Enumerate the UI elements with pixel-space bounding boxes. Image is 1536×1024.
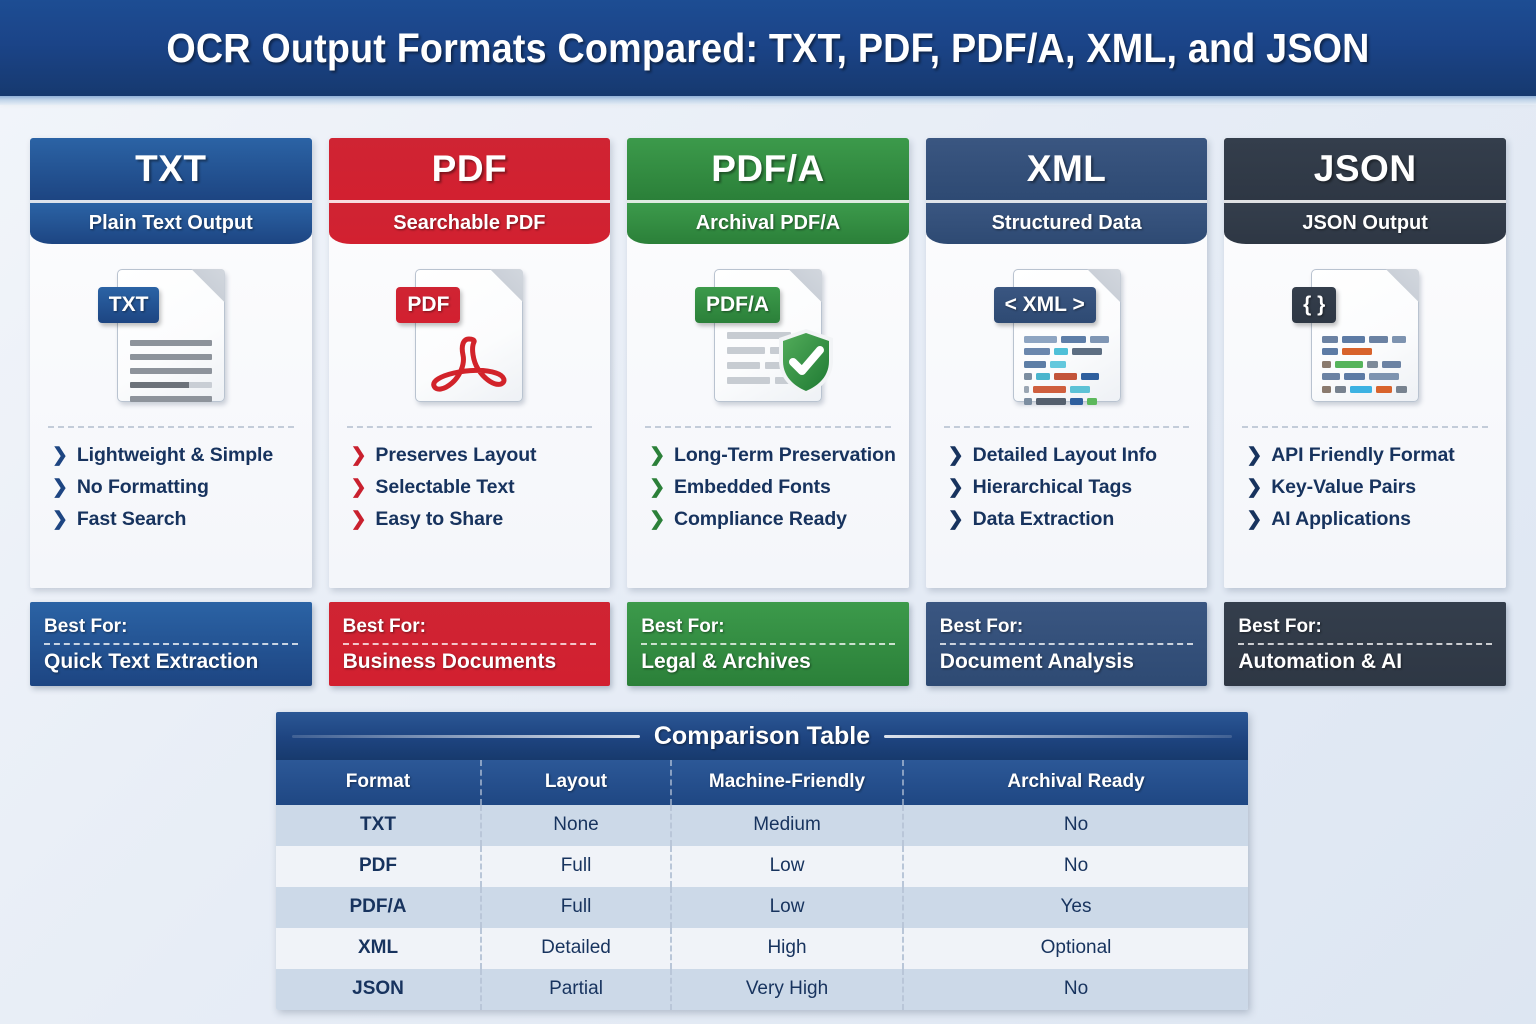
chevron-right-icon: ❯ <box>649 510 665 529</box>
code-token <box>1024 348 1050 355</box>
row-format-name: PDF/A <box>276 887 481 928</box>
code-token <box>1382 361 1401 368</box>
code-token <box>1322 336 1338 343</box>
card-feature-list-xml: ❯Detailed Layout Info❯Hierarchical Tags❯… <box>926 428 1208 541</box>
acrobat-swirl-icon <box>430 336 508 398</box>
card-title-json: JSON <box>1224 138 1506 200</box>
best-for-label: Best For: <box>940 616 1194 638</box>
card-subtitle-pdf: Searchable PDF <box>329 200 611 244</box>
code-token <box>1036 398 1066 405</box>
feature-item: ❯Compliance Ready <box>649 508 909 531</box>
code-line <box>1024 398 1112 405</box>
code-token <box>1344 373 1365 380</box>
feature-item: ❯Data Extraction <box>948 508 1208 531</box>
code-token <box>1024 373 1033 380</box>
format-card-json[interactable]: JSONJSON Output{ }❯API Friendly Format❯K… <box>1224 138 1506 588</box>
code-token <box>1024 398 1033 405</box>
feature-label: Data Extraction <box>973 508 1115 531</box>
best-for-rule <box>641 643 895 645</box>
text-line <box>130 396 212 402</box>
comparison-table-panel: Comparison Table FormatLayoutMachine-Fri… <box>276 712 1248 1010</box>
table-row: XMLDetailedHighOptional <box>276 928 1248 969</box>
card-title-txt: TXT <box>30 138 312 200</box>
best-for-label: Best For: <box>641 616 895 638</box>
comparison-table-title: Comparison Table <box>654 722 870 751</box>
feature-item: ❯Detailed Layout Info <box>948 444 1208 467</box>
code-token <box>1369 373 1399 380</box>
table-row: JSONPartialVery HighNo <box>276 969 1248 1010</box>
code-line <box>1024 386 1112 393</box>
card-subtitle-pdfa: Archival PDF/A <box>627 200 909 244</box>
best-for-row: Best For:Quick Text ExtractionBest For:B… <box>30 602 1506 686</box>
feature-item: ❯Selectable Text <box>351 476 611 499</box>
chevron-right-icon: ❯ <box>351 446 367 465</box>
table-cell: No <box>903 805 1248 846</box>
feature-item: ❯AI Applications <box>1246 508 1506 531</box>
feature-item: ❯Embedded Fonts <box>649 476 909 499</box>
card-subtitle-xml: Structured Data <box>926 200 1208 244</box>
feature-label: AI Applications <box>1271 508 1411 531</box>
feature-label: Key-Value Pairs <box>1271 476 1416 499</box>
best-for-value: Business Documents <box>343 650 597 674</box>
feature-item: ❯API Friendly Format <box>1246 444 1506 467</box>
txt-file-icon: TXT <box>117 269 225 402</box>
card-icon-area-xml: < XML > <box>926 244 1208 426</box>
card-feature-list-txt: ❯Lightweight & Simple❯No Formatting❯Fast… <box>30 428 312 541</box>
chevron-right-icon: ❯ <box>649 446 665 465</box>
page-title: OCR Output Formats Compared: TXT, PDF, P… <box>166 25 1369 72</box>
table-header-row: FormatLayoutMachine-FriendlyArchival Rea… <box>276 760 1248 805</box>
text-line <box>130 354 212 360</box>
best-for-rule <box>343 643 597 645</box>
feature-item: ❯Preserves Layout <box>351 444 611 467</box>
file-type-badge: PDF <box>396 287 460 323</box>
card-title-xml: XML <box>926 138 1208 200</box>
text-line <box>727 347 765 354</box>
feature-item: ❯Key-Value Pairs <box>1246 476 1506 499</box>
code-line <box>1322 336 1410 343</box>
text-lines <box>130 340 212 410</box>
code-line <box>1024 348 1112 355</box>
chevron-right-icon: ❯ <box>1246 510 1262 529</box>
comparison-table-title-bar: Comparison Table <box>276 712 1248 760</box>
best-for-card-json[interactable]: Best For:Automation & AI <box>1224 602 1506 686</box>
table-cell: Partial <box>481 969 671 1010</box>
card-title-pdf: PDF <box>329 138 611 200</box>
feature-label: Lightweight & Simple <box>77 444 273 467</box>
feature-label: Preserves Layout <box>375 444 536 467</box>
column-header-machine-friendly[interactable]: Machine-Friendly <box>671 760 903 805</box>
title-rule-right <box>884 735 1232 738</box>
feature-item: ❯Hierarchical Tags <box>948 476 1208 499</box>
code-token <box>1072 348 1102 355</box>
comparison-table: FormatLayoutMachine-FriendlyArchival Rea… <box>276 760 1248 1010</box>
card-feature-list-pdfa: ❯Long-Term Preservation❯Embedded Fonts❯C… <box>627 428 909 541</box>
file-type-badge: { } <box>1292 287 1336 323</box>
code-token <box>1335 386 1346 393</box>
best-for-card-pdf[interactable]: Best For:Business Documents <box>329 602 611 686</box>
table-cell: Full <box>481 887 671 928</box>
best-for-rule <box>1238 643 1492 645</box>
table-cell: Full <box>481 846 671 887</box>
feature-label: Easy to Share <box>375 508 503 531</box>
pdf-file-icon: PDF <box>415 269 523 402</box>
card-icon-area-json: { } <box>1224 244 1506 426</box>
chevron-right-icon: ❯ <box>948 510 964 529</box>
best-for-rule <box>940 643 1194 645</box>
best-for-card-txt[interactable]: Best For:Quick Text Extraction <box>30 602 312 686</box>
best-for-rule <box>44 643 298 645</box>
feature-item: ❯Lightweight & Simple <box>52 444 312 467</box>
table-row: TXTNoneMediumNo <box>276 805 1248 846</box>
row-format-name: JSON <box>276 969 481 1010</box>
xml-file-icon: < XML > <box>1013 269 1121 402</box>
table-cell: Yes <box>903 887 1248 928</box>
row-format-name: TXT <box>276 805 481 846</box>
table-cell: No <box>903 846 1248 887</box>
best-for-value: Automation & AI <box>1238 650 1492 674</box>
code-token <box>1322 361 1331 368</box>
code-token <box>1090 336 1109 343</box>
text-line <box>130 340 212 346</box>
comparison-table-head: FormatLayoutMachine-FriendlyArchival Rea… <box>276 760 1248 805</box>
column-header-format[interactable]: Format <box>276 760 481 805</box>
code-line <box>1024 361 1112 368</box>
page-fold-corner <box>191 269 225 303</box>
table-cell: Low <box>671 887 903 928</box>
card-title-pdfa: PDF/A <box>627 138 909 200</box>
feature-label: Hierarchical Tags <box>973 476 1132 499</box>
code-token <box>1024 386 1029 393</box>
chevron-right-icon: ❯ <box>1246 446 1262 465</box>
code-token <box>1070 386 1089 393</box>
code-token <box>1367 361 1378 368</box>
code-token <box>1335 361 1363 368</box>
code-token <box>1087 398 1098 405</box>
code-line <box>1322 361 1410 368</box>
table-cell: No <box>903 969 1248 1010</box>
text-line <box>727 362 760 369</box>
feature-label: Fast Search <box>77 508 186 531</box>
best-for-value: Document Analysis <box>940 650 1194 674</box>
file-type-badge: PDF/A <box>695 287 780 323</box>
card-subtitle-json: JSON Output <box>1224 200 1506 244</box>
feature-label: No Formatting <box>77 476 209 499</box>
card-icon-area-txt: TXT <box>30 244 312 426</box>
card-subtitle-txt: Plain Text Output <box>30 200 312 244</box>
file-type-badge: TXT <box>98 287 160 323</box>
code-token <box>1054 348 1068 355</box>
code-token <box>1054 373 1077 380</box>
page-fold-corner <box>489 269 523 303</box>
feature-label: API Friendly Format <box>1271 444 1454 467</box>
code-lines <box>1322 336 1410 399</box>
file-type-badge: < XML > <box>994 287 1096 323</box>
text-line <box>130 382 212 388</box>
format-card-pdfa[interactable]: PDF/AArchival PDF/APDF/A❯Long-Term Prese… <box>627 138 909 588</box>
code-token <box>1342 336 1365 343</box>
code-token <box>1322 348 1338 355</box>
code-lines <box>1024 336 1112 411</box>
feature-label: Embedded Fonts <box>674 476 831 499</box>
code-token <box>1322 373 1340 380</box>
column-header-layout[interactable]: Layout <box>481 760 671 805</box>
feature-label: Long-Term Preservation <box>674 444 896 467</box>
code-token <box>1061 336 1086 343</box>
chevron-right-icon: ❯ <box>351 478 367 497</box>
row-format-name: XML <box>276 928 481 969</box>
code-token <box>1036 373 1050 380</box>
chevron-right-icon: ❯ <box>649 478 665 497</box>
feature-label: Detailed Layout Info <box>973 444 1157 467</box>
code-token <box>1024 361 1047 368</box>
table-cell: High <box>671 928 903 969</box>
format-cards-row: TXTPlain Text OutputTXT❯Lightweight & Si… <box>30 138 1506 588</box>
format-card-pdf[interactable]: PDFSearchable PDFPDF❯Preserves Layout❯Se… <box>329 138 611 588</box>
table-cell: Detailed <box>481 928 671 969</box>
code-token <box>1322 386 1331 393</box>
chevron-right-icon: ❯ <box>948 446 964 465</box>
feature-item: ❯Easy to Share <box>351 508 611 531</box>
row-format-name: PDF <box>276 846 481 887</box>
table-cell: Medium <box>671 805 903 846</box>
table-cell: Low <box>671 846 903 887</box>
chevron-right-icon: ❯ <box>948 478 964 497</box>
text-line <box>130 368 212 374</box>
card-icon-area-pdf: PDF <box>329 244 611 426</box>
code-token <box>1369 336 1388 343</box>
code-line <box>1024 336 1112 343</box>
format-card-txt[interactable]: TXTPlain Text OutputTXT❯Lightweight & Si… <box>30 138 312 588</box>
feature-item: ❯Long-Term Preservation <box>649 444 909 467</box>
best-for-value: Legal & Archives <box>641 650 895 674</box>
code-token <box>1392 336 1406 343</box>
card-icon-area-pdfa: PDF/A <box>627 244 909 426</box>
code-token <box>1342 348 1372 355</box>
page-fold-corner <box>788 269 822 303</box>
json-file-icon: { } <box>1311 269 1419 402</box>
chevron-right-icon: ❯ <box>52 446 68 465</box>
card-feature-list-json: ❯API Friendly Format❯Key-Value Pairs❯AI … <box>1224 428 1506 541</box>
chevron-right-icon: ❯ <box>351 510 367 529</box>
code-line <box>1024 373 1112 380</box>
column-header-archival-ready[interactable]: Archival Ready <box>903 760 1248 805</box>
table-cell: None <box>481 805 671 846</box>
comparison-table-body: TXTNoneMediumNoPDFFullLowNoPDF/AFullLowY… <box>276 805 1248 1010</box>
best-for-label: Best For: <box>1238 616 1492 638</box>
code-token <box>1376 386 1392 393</box>
feature-item: ❯Fast Search <box>52 508 312 531</box>
code-token <box>1024 336 1057 343</box>
pdfa-file-shield-icon: PDF/A <box>714 269 822 402</box>
feature-label: Selectable Text <box>375 476 514 499</box>
best-for-label: Best For: <box>44 616 298 638</box>
feature-label: Compliance Ready <box>674 508 847 531</box>
best-for-value: Quick Text Extraction <box>44 650 298 674</box>
page-fold-corner <box>1385 269 1419 303</box>
table-row: PDF/AFullLowYes <box>276 887 1248 928</box>
title-rule-left <box>292 735 640 738</box>
code-token <box>1396 386 1407 393</box>
table-row: PDFFullLowNo <box>276 846 1248 887</box>
table-cell: Very High <box>671 969 903 1010</box>
verified-shield-icon <box>775 327 837 397</box>
code-line <box>1322 373 1410 380</box>
text-line <box>727 377 770 384</box>
chevron-right-icon: ❯ <box>52 510 68 529</box>
best-for-label: Best For: <box>343 616 597 638</box>
code-token <box>1350 386 1373 393</box>
table-cell: Optional <box>903 928 1248 969</box>
code-token <box>1081 373 1099 380</box>
best-for-card-pdfa[interactable]: Best For:Legal & Archives <box>627 602 909 686</box>
code-token <box>1050 361 1066 368</box>
card-feature-list-pdf: ❯Preserves Layout❯Selectable Text❯Easy t… <box>329 428 611 541</box>
code-line <box>1322 348 1410 355</box>
code-token <box>1070 398 1082 405</box>
page-header-bar: OCR Output Formats Compared: TXT, PDF, P… <box>0 0 1536 96</box>
feature-item: ❯No Formatting <box>52 476 312 499</box>
format-card-xml[interactable]: XMLStructured Data< XML >❯Detailed Layou… <box>926 138 1208 588</box>
code-token <box>1033 386 1066 393</box>
best-for-card-xml[interactable]: Best For:Document Analysis <box>926 602 1208 686</box>
chevron-right-icon: ❯ <box>52 478 68 497</box>
chevron-right-icon: ❯ <box>1246 478 1262 497</box>
code-line <box>1322 386 1410 393</box>
